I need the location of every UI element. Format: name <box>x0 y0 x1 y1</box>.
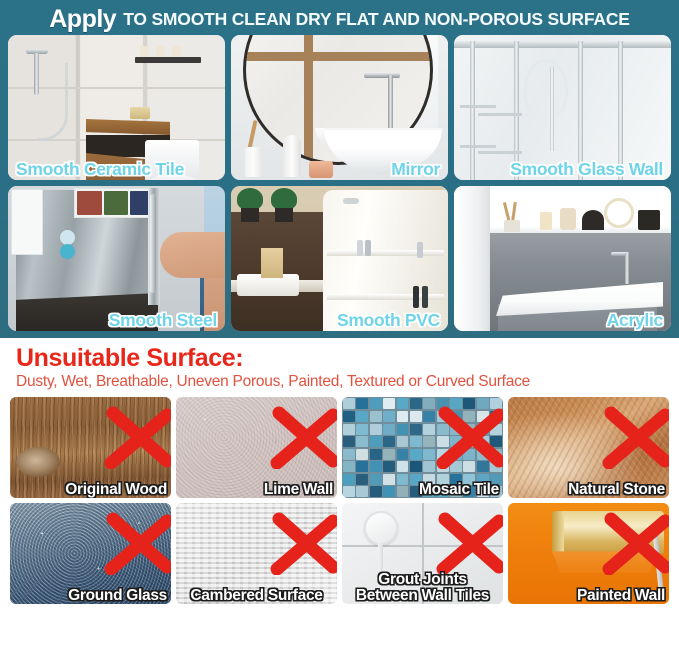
apply-tile-label: Smooth PVC <box>337 311 440 329</box>
apply-title-emphasis: Apply <box>49 7 116 32</box>
apply-tile-label: Acrylic <box>607 311 663 329</box>
unsuitable-section-title: Unsuitable Surface: <box>16 344 669 372</box>
red-x-mark-icon <box>601 511 669 575</box>
apply-tile-label: Smooth Glass Wall <box>510 160 663 178</box>
red-x-mark-icon <box>269 511 337 575</box>
unsuitable-tile-label: Painted Wall <box>577 588 665 604</box>
unsuitable-tile-label: Lime Wall <box>264 482 333 498</box>
unsuitable-section-subtitle: Dusty, Wet, Breathable, Uneven Porous, P… <box>16 372 669 391</box>
unsuitable-tile-ground-glass: Ground Glass <box>10 503 171 604</box>
red-x-mark-icon <box>103 405 171 469</box>
unsuitable-tile-original-wood: Original Wood <box>10 397 171 498</box>
red-x-mark-icon <box>601 405 669 469</box>
apply-tile-glass-wall: Smooth Glass Wall <box>454 35 671 180</box>
unsuitable-section: Unsuitable Surface: Dusty, Wet, Breathab… <box>0 338 679 662</box>
unsuitable-tile-label: Ground Glass <box>68 588 167 604</box>
apply-tile-label: Smooth Steel <box>109 311 217 329</box>
unsuitable-tile-label: Grout Joints Between Wall Tiles <box>342 572 503 605</box>
apply-tile-pvc: Smooth PVC <box>231 186 448 331</box>
apply-tile-label: Smooth Ceramic Tile <box>16 160 184 178</box>
unsuitable-tile-label: Natural Stone <box>568 482 665 498</box>
red-x-mark-icon <box>435 405 503 469</box>
unsuitable-tile-mosaic-tile: Mosaic Tile <box>342 397 503 498</box>
unsuitable-tile-cambered-surface: Cambered Surface <box>176 503 337 604</box>
apply-section: Apply TO SMOOTH CLEAN DRY FLAT AND NON-P… <box>0 0 679 338</box>
apply-section-title: Apply TO SMOOTH CLEAN DRY FLAT AND NON-P… <box>8 4 671 35</box>
unsuitable-tile-label: Cambered Surface <box>176 588 337 604</box>
unsuitable-tile-grout-joints: Grout Joints Between Wall Tiles <box>342 503 503 604</box>
apply-tile-acrylic: Acrylic <box>454 186 671 331</box>
red-x-mark-icon <box>103 511 171 575</box>
unsuitable-tile-natural-stone: Natural Stone <box>508 397 669 498</box>
apply-tile-ceramic: Smooth Ceramic Tile <box>8 35 225 180</box>
apply-tile-mirror: Mirror <box>231 35 448 180</box>
unsuitable-tile-label: Original Wood <box>65 482 167 498</box>
infographic-page: Apply TO SMOOTH CLEAN DRY FLAT AND NON-P… <box>0 0 679 662</box>
unsuitable-tile-lime-wall: Lime Wall <box>176 397 337 498</box>
red-x-mark-icon <box>435 511 503 575</box>
unsuitable-tile-grid: Original Wood Lime Wall Mosaic Ti <box>10 397 669 604</box>
red-x-mark-icon <box>269 405 337 469</box>
apply-tile-grid: Smooth Ceramic Tile <box>8 35 671 331</box>
apply-title-rest: TO SMOOTH CLEAN DRY FLAT AND NON-POROUS … <box>123 11 630 29</box>
unsuitable-tile-painted-wall: Painted Wall <box>508 503 669 604</box>
apply-tile-steel: Smooth Steel <box>8 186 225 331</box>
unsuitable-tile-label: Mosaic Tile <box>419 482 499 498</box>
apply-tile-label: Mirror <box>391 160 440 178</box>
